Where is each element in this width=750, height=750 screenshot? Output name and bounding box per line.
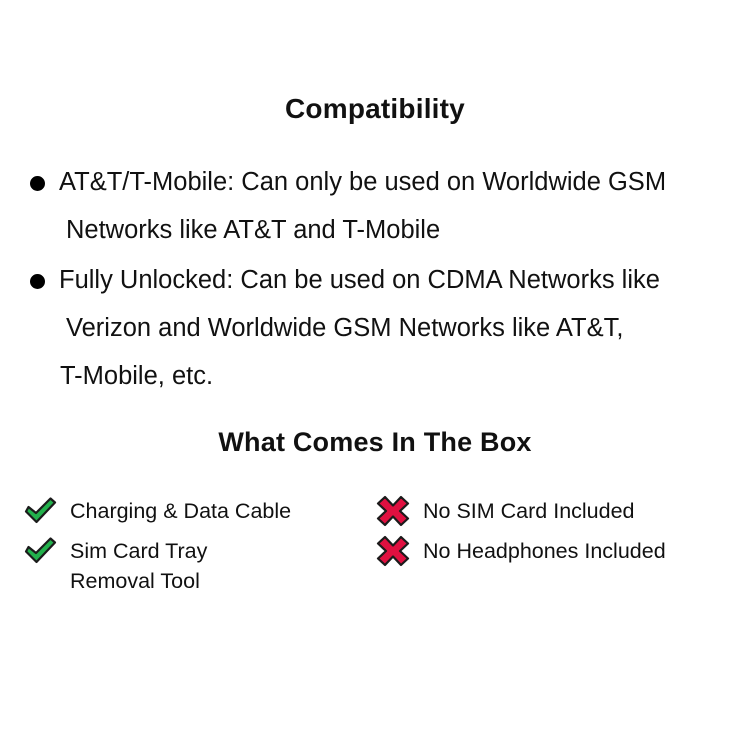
included-column: Charging & Data Cable Sim Card Tray Remo… <box>22 494 291 602</box>
list-item: No Headphones Included <box>375 534 666 568</box>
list-item: No SIM Card Included <box>375 494 666 528</box>
bullet-dot-icon <box>30 176 45 191</box>
bullet-dot-icon <box>30 274 45 289</box>
compatibility-list: AT&T/T-Mobile: Can only be used on World… <box>0 158 750 402</box>
item-label: Charging & Data Cable <box>70 494 291 526</box>
box-contents-heading: What Comes In The Box <box>0 427 750 458</box>
product-info-panel: Compatibility AT&T/T-Mobile: Can only be… <box>0 0 750 750</box>
bullet-line: AT&T/T-Mobile: Can only be used on World… <box>0 158 750 206</box>
bullet-text-continuation: T-Mobile, etc. <box>0 352 750 400</box>
item-label: Sim Card Tray Removal Tool <box>70 534 207 596</box>
list-item: AT&T/T-Mobile: Can only be used on World… <box>0 158 750 254</box>
bullet-text-continuation: Verizon and Worldwide GSM Networks like … <box>0 304 750 352</box>
compatibility-heading: Compatibility <box>0 93 750 125</box>
item-label: No Headphones Included <box>423 534 666 566</box>
list-item: Fully Unlocked: Can be used on CDMA Netw… <box>0 256 750 400</box>
bullet-line: Fully Unlocked: Can be used on CDMA Netw… <box>0 256 750 304</box>
bullet-text-continuation: Networks like AT&T and T-Mobile <box>0 206 750 254</box>
check-icon <box>22 494 58 528</box>
check-icon <box>22 534 58 568</box>
list-item: Sim Card Tray Removal Tool <box>22 534 291 596</box>
item-label: No SIM Card Included <box>423 494 635 526</box>
not-included-column: No SIM Card Included No Headphones Inclu… <box>375 494 666 574</box>
cross-icon <box>375 534 411 568</box>
list-item: Charging & Data Cable <box>22 494 291 528</box>
bullet-text: Fully Unlocked: Can be used on CDMA Netw… <box>59 266 660 294</box>
cross-icon <box>375 494 411 528</box>
bullet-text: AT&T/T-Mobile: Can only be used on World… <box>59 168 666 196</box>
